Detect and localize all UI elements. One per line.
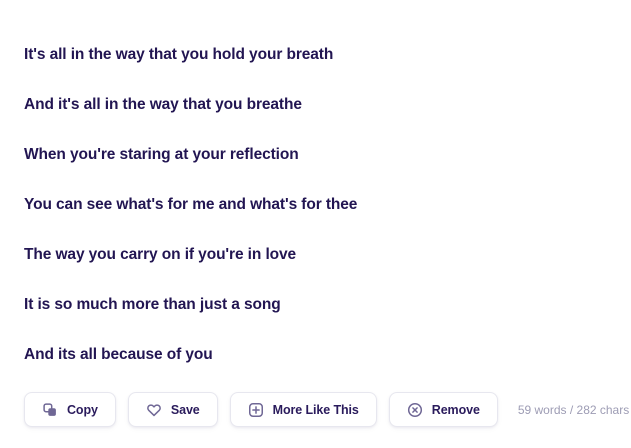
lyric-line: And its all because of you [24, 330, 604, 380]
lyric-line: It is so much more than just a song [24, 280, 604, 330]
remove-button[interactable]: Remove [389, 392, 498, 427]
lyric-line: It's all in the way that you hold your b… [24, 30, 604, 80]
copy-button-label: Copy [67, 403, 98, 417]
heart-icon [146, 402, 162, 418]
save-button[interactable]: Save [128, 392, 218, 427]
action-bar: Copy Save More Like This [24, 392, 629, 427]
remove-button-label: Remove [432, 403, 480, 417]
lyrics-result-panel: It's all in the way that you hold your b… [0, 0, 631, 448]
word-char-count: 59 words / 282 chars [518, 403, 629, 417]
copy-icon [42, 402, 58, 418]
lyric-line: You can see what's for me and what's for… [24, 180, 604, 230]
save-button-label: Save [171, 403, 200, 417]
lyric-line: And it's all in the way that you breathe [24, 80, 604, 130]
lyrics-text-block: It's all in the way that you hold your b… [24, 30, 604, 380]
plus-square-icon [248, 402, 264, 418]
more-like-this-button[interactable]: More Like This [230, 392, 377, 427]
lyric-line: When you're staring at your reflection [24, 130, 604, 180]
circle-x-icon [407, 402, 423, 418]
copy-button[interactable]: Copy [24, 392, 116, 427]
lyric-line: The way you carry on if you're in love [24, 230, 604, 280]
more-like-this-button-label: More Like This [273, 403, 359, 417]
